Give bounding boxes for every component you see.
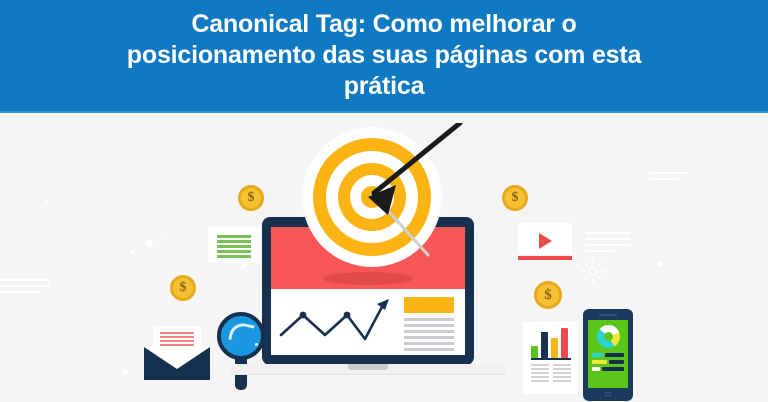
video-progress-bar <box>518 256 572 260</box>
bar-chart-report-card <box>523 322 577 394</box>
comment-card-tail <box>242 262 251 270</box>
decoration-dot-e <box>657 262 662 267</box>
coin-symbol: $ <box>180 280 187 296</box>
smartphone-device <box>583 309 633 401</box>
video-screen <box>518 223 572 254</box>
gear-decoration-icon <box>580 258 606 284</box>
screen-text-lines <box>404 318 454 351</box>
coin-top-left: $ <box>238 185 264 211</box>
donut-chart <box>597 325 620 348</box>
decoration-dot-b <box>131 250 135 254</box>
video-player-card <box>518 223 572 261</box>
search-magnifier-icon <box>217 312 265 390</box>
decoration-dot-a <box>146 240 153 247</box>
magnifier-glare-dot <box>255 343 258 346</box>
decoration-dot-c <box>123 370 128 375</box>
laptop-trackpad <box>348 364 388 370</box>
bar-chart-card-text <box>531 364 571 382</box>
bar-1 <box>531 346 538 358</box>
phone-speaker <box>599 314 617 316</box>
coin-mid-right: $ <box>534 281 562 309</box>
comment-card-lines <box>217 235 251 258</box>
decoration-lines-left <box>0 279 50 293</box>
coin-symbol: $ <box>512 190 519 206</box>
phone-stat-row <box>592 367 624 371</box>
email-envelope <box>144 326 210 380</box>
decoration-plus-a: + <box>44 197 50 208</box>
bar-chart-bars <box>531 328 571 358</box>
bar-4 <box>561 328 568 358</box>
arrow-hitting-bullseye-icon <box>300 123 480 283</box>
magnifier-lens <box>217 312 265 360</box>
decoration-lines-right <box>649 172 689 180</box>
play-icon <box>539 233 552 249</box>
coin-top-right: $ <box>502 185 528 211</box>
page-root: Canonical Tag: Como melhorar o posiciona… <box>0 0 768 402</box>
phone-home-button <box>605 392 611 396</box>
bar-chart-axis <box>531 358 571 360</box>
page-title: Canonical Tag: Como melhorar o posiciona… <box>98 9 670 102</box>
bar-chart-text-col-right <box>553 364 571 382</box>
hero-illustration: + + + <box>0 113 768 402</box>
bar-3 <box>551 338 558 358</box>
phone-stat-row <box>592 360 624 364</box>
coin-symbol: $ <box>544 287 552 304</box>
bar-chart-text-col-left <box>531 364 549 382</box>
video-card-text-lines <box>585 232 631 252</box>
growth-line-chart <box>279 295 397 343</box>
decoration-plus-b: + <box>160 228 165 239</box>
screen-highlight-block <box>404 297 454 313</box>
coin-mid-left: $ <box>170 275 196 301</box>
page-header: Canonical Tag: Como melhorar o posiciona… <box>0 0 768 111</box>
bar-2 <box>541 332 548 358</box>
phone-stat-rows <box>592 353 624 371</box>
magnifier-glare <box>228 321 254 344</box>
comment-card <box>208 227 260 263</box>
coin-symbol: $ <box>248 190 255 206</box>
phone-screen <box>588 320 628 388</box>
phone-stat-row <box>592 353 624 357</box>
